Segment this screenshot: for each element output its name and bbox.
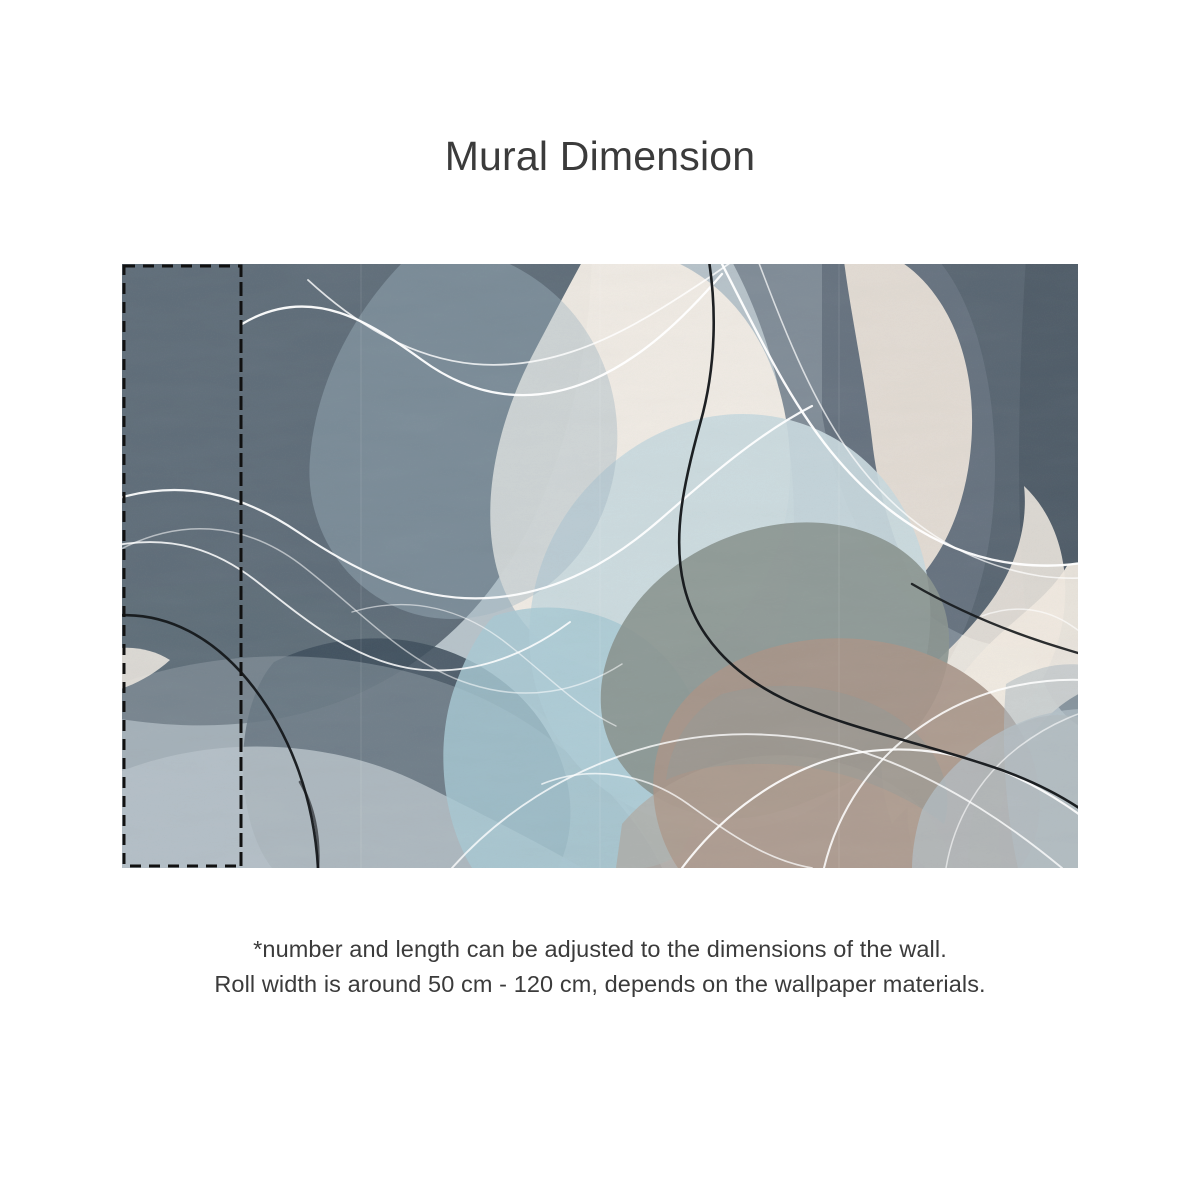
- mural-preview-image: [122, 264, 1078, 868]
- caption-line-2: Roll width is around 50 cm - 120 cm, dep…: [0, 967, 1200, 1002]
- mural-dimension-page: Mural Dimension: [0, 0, 1200, 1200]
- mural-artwork-svg: [122, 264, 1078, 868]
- caption-line-1: *number and length can be adjusted to th…: [0, 932, 1200, 967]
- caption-container: *number and length can be adjusted to th…: [0, 932, 1200, 1002]
- page-title-container: Mural Dimension: [0, 132, 1200, 181]
- page-title: Mural Dimension: [0, 132, 1200, 181]
